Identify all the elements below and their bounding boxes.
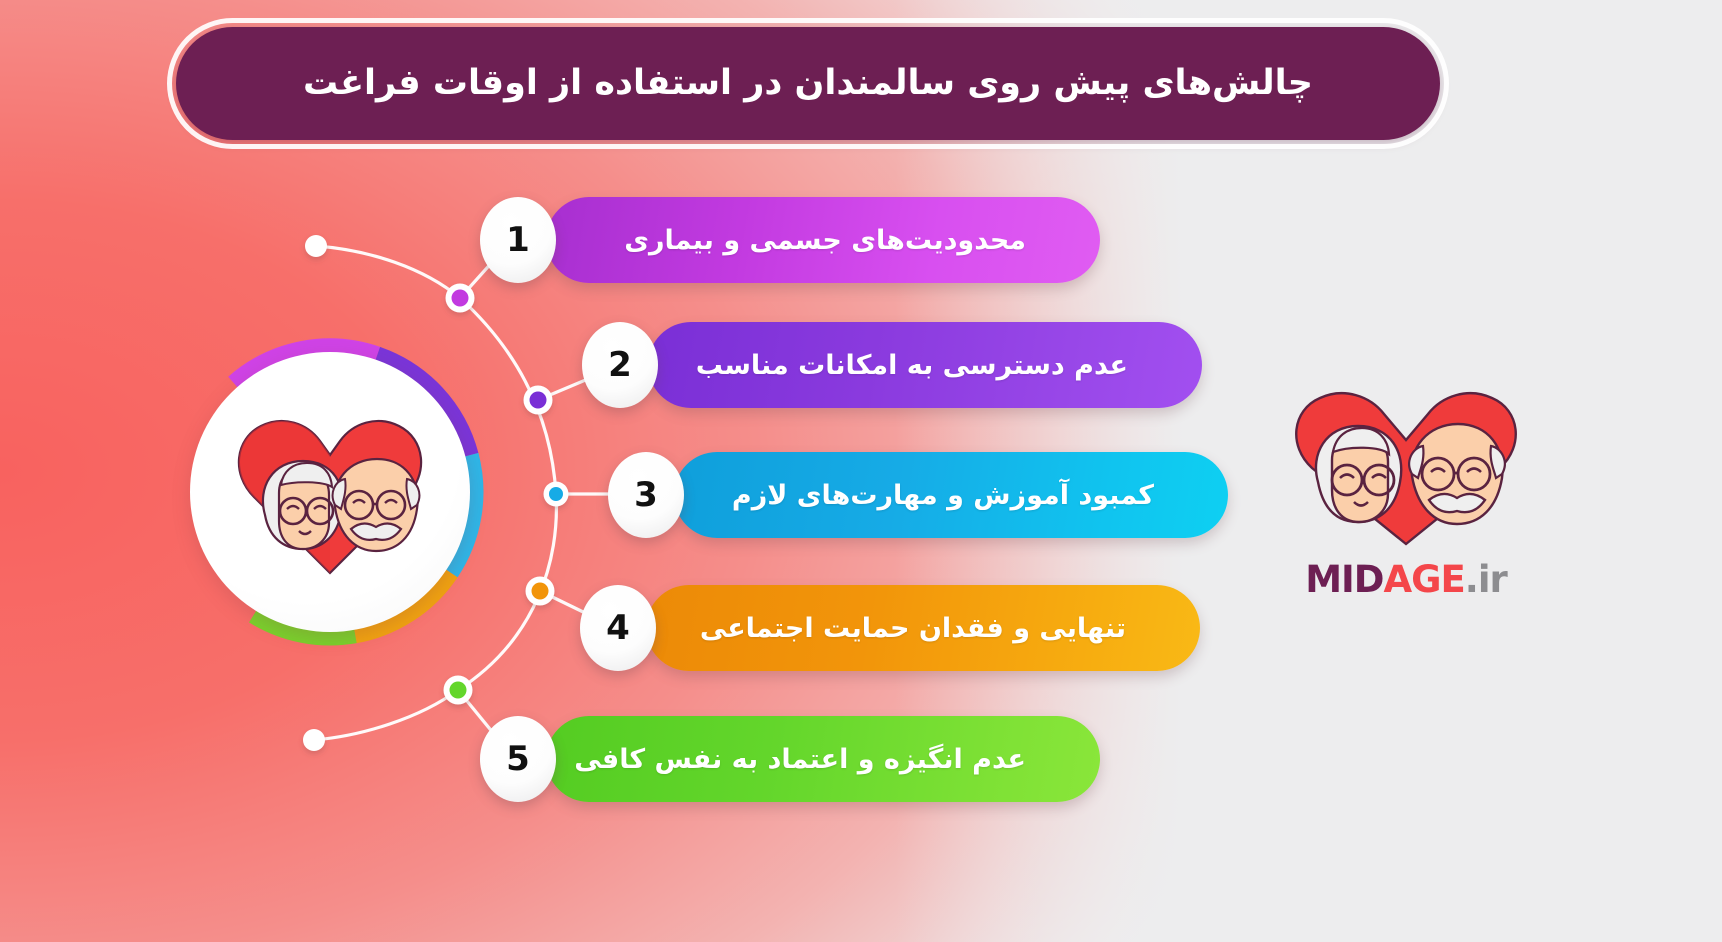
item-label: عدم انگیزه و اعتماد به نفس کافی — [574, 744, 1100, 775]
item-label: کمبود آموزش و مهارت‌های لازم — [732, 480, 1228, 511]
item-number-badge[interactable]: 5 — [480, 716, 556, 802]
medallion-disc — [190, 352, 470, 632]
brand-dot: . — [1465, 558, 1478, 601]
list-item[interactable]: محدودیت‌های جسمی و بیماری 1 — [480, 197, 1100, 283]
item-bar[interactable]: محدودیت‌های جسمی و بیماری — [546, 197, 1100, 283]
item-bar[interactable]: عدم انگیزه و اعتماد به نفس کافی — [546, 716, 1100, 802]
item-label: محدودیت‌های جسمی و بیماری — [624, 225, 1100, 256]
item-number-badge[interactable]: 2 — [582, 322, 658, 408]
brand-wordmark: MIDAGE.ir — [1256, 558, 1556, 601]
item-bar[interactable]: تنهایی و فقدان حمایت اجتماعی — [646, 585, 1200, 671]
item-number-badge[interactable]: 4 — [580, 585, 656, 671]
page-title-banner: چالش‌های پیش روی سالمندان در استفاده از … — [176, 27, 1440, 140]
list-item[interactable]: عدم دسترسی به امکانات مناسب 2 — [582, 322, 1202, 408]
item-label: عدم دسترسی به امکانات مناسب — [696, 350, 1202, 381]
list-item[interactable]: عدم انگیزه و اعتماد به نفس کافی 5 — [480, 716, 1100, 802]
item-number-badge[interactable]: 3 — [608, 452, 684, 538]
brand-ir: ir — [1478, 558, 1507, 601]
brand-elderly-couple-heart-icon — [1266, 372, 1546, 557]
item-label: تنهایی و فقدان حمایت اجتماعی — [700, 613, 1200, 644]
item-bar[interactable]: عدم دسترسی به امکانات مناسب — [648, 322, 1202, 408]
medallion — [168, 330, 492, 654]
item-number-badge[interactable]: 1 — [480, 197, 556, 283]
brand-mid: MID — [1305, 558, 1383, 601]
list-item[interactable]: کمبود آموزش و مهارت‌های لازم 3 — [608, 452, 1228, 538]
list-item[interactable]: تنهایی و فقدان حمایت اجتماعی 4 — [580, 585, 1200, 671]
elderly-couple-heart-icon — [223, 397, 437, 587]
item-bar[interactable]: کمبود آموزش و مهارت‌های لازم — [674, 452, 1228, 538]
brand-logo[interactable]: MIDAGE.ir — [1256, 372, 1556, 622]
brand-age: AGE — [1384, 558, 1465, 601]
infographic-canvas: چالش‌های پیش روی سالمندان در استفاده از … — [0, 0, 1722, 942]
page-title: چالش‌های پیش روی سالمندان در استفاده از … — [273, 62, 1343, 106]
